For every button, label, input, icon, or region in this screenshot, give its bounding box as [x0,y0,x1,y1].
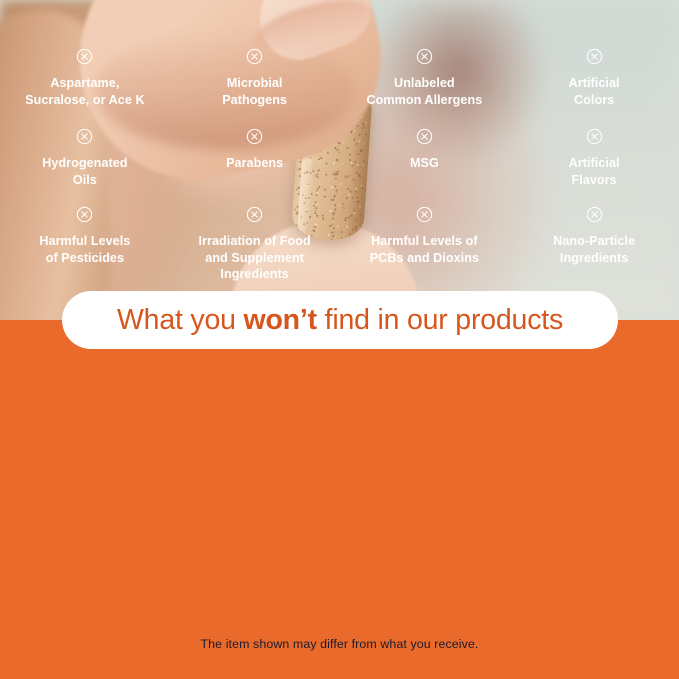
circle-x-icon [76,206,93,223]
exclusion-item: Harmful Levels of PCBs and Dioxins [340,206,510,292]
exclusion-item-label: Nano-Particle Ingredients [553,233,635,266]
headline-emphasis: won’t [244,304,317,336]
headline-text: What you won’t find in our products [117,304,563,337]
circle-x-icon [586,128,603,145]
exclusion-item: Aspartame, Sucralose, or Ace K [0,48,170,128]
circle-x-icon [586,48,603,65]
exclusion-item-label: Parabens [226,155,283,172]
exclusion-item: Parabens [170,128,340,206]
circle-x-icon [246,206,263,223]
exclusion-item: MSG [340,128,510,206]
circle-x-icon [416,206,433,223]
headline-part-before: What you [117,304,244,336]
exclusion-item-label: Artificial Colors [569,75,620,108]
circle-x-icon [416,128,433,145]
circle-x-icon [246,48,263,65]
circle-x-icon [246,128,263,145]
exclusion-item-label: Artificial Flavors [569,155,620,188]
exclusion-item-label: Hydrogenated Oils [42,155,127,188]
exclusion-item-label: Harmful Levels of PCBs and Dioxins [370,233,479,266]
exclusion-item-label: Aspartame, Sucralose, or Ace K [25,75,144,108]
exclusion-item: Hydrogenated Oils [0,128,170,206]
exclusions-grid: Aspartame, Sucralose, or Ace KMicrobial … [0,48,679,292]
exclusion-item: Artificial Flavors [509,128,679,206]
exclusion-item-label: MSG [410,155,439,172]
circle-x-icon [586,206,603,223]
exclusion-item-label: Irradiation of Food and Supplement Ingre… [199,233,311,283]
disclaimer-text: The item shown may differ from what you … [0,637,679,651]
circle-x-icon [76,128,93,145]
headline-part-after: find in our products [317,304,563,336]
exclusion-item: Nano-Particle Ingredients [509,206,679,292]
circle-x-icon [76,48,93,65]
exclusion-item: Irradiation of Food and Supplement Ingre… [170,206,340,292]
exclusion-item: Microbial Pathogens [170,48,340,128]
exclusion-item: Artificial Colors [509,48,679,128]
exclusion-item: Harmful Levels of Pesticides [0,206,170,292]
exclusion-item-label: Harmful Levels of Pesticides [39,233,130,266]
exclusions-panel [0,320,679,679]
product-infographic: What you won’t find in our products Aspa… [0,0,679,679]
circle-x-icon [416,48,433,65]
exclusion-item: Unlabeled Common Allergens [340,48,510,128]
exclusion-item-label: Unlabeled Common Allergens [366,75,482,108]
headline-banner: What you won’t find in our products [62,291,618,349]
exclusion-item-label: Microbial Pathogens [222,75,287,108]
